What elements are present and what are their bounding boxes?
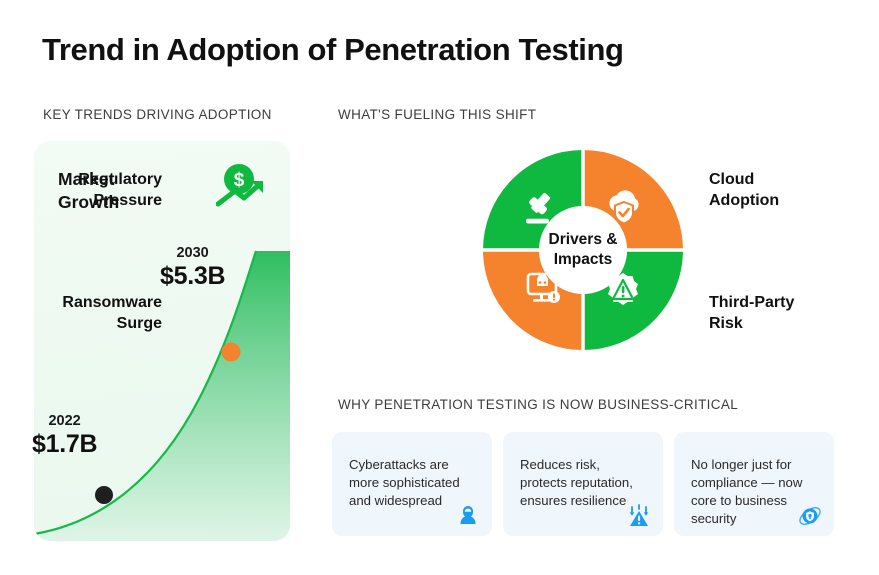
- section-label-key-trends: KEY TRENDS DRIVING ADOPTION: [43, 107, 272, 122]
- donut-label-ransomware-line1: Ransomware: [62, 294, 162, 311]
- donut-label-ransomware-surge: Ransomware Surge: [62, 293, 162, 335]
- chart-label-2030-value: $5.3B: [160, 263, 225, 290]
- donut-label-thirdparty-line2: Risk: [709, 315, 743, 332]
- drivers-impacts-donut: Drivers & Impacts: [483, 150, 683, 350]
- risk-down-icon: [626, 503, 652, 529]
- chart-label-2022-value: $1.7B: [32, 431, 97, 458]
- donut-label-cloud-line2: Adoption: [709, 192, 779, 209]
- market-growth-title: Market Growth: [58, 168, 119, 214]
- donut-label-cloud-line1: Cloud: [709, 171, 754, 188]
- business-critical-cards: Cyberattacks are more sophisticated and …: [332, 432, 834, 536]
- dollar-growth-icon: $: [216, 163, 270, 211]
- chart-label-2022: 2022 $1.7B: [32, 414, 97, 458]
- section-label-whats-fueling: WHAT'S FUELING THIS SHIFT: [338, 107, 536, 122]
- donut-label-third-party-risk: Third-Party Risk: [709, 293, 794, 335]
- chart-label-2030-year: 2030: [160, 246, 225, 261]
- market-growth-card: Market Growth $: [34, 141, 290, 541]
- market-growth-title-line2: Growth: [58, 192, 119, 212]
- market-growth-title-line1: Market: [58, 169, 114, 189]
- section-label-why-business-critical: WHY PENETRATION TESTING IS NOW BUSINESS-…: [338, 397, 738, 412]
- info-card-compliance: No longer just for compliance — now core…: [674, 432, 834, 536]
- page-title: Trend in Adoption of Penetration Testing: [42, 32, 624, 68]
- shield-orbit-icon: [797, 503, 823, 529]
- info-card-cyberattacks: Cyberattacks are more sophisticated and …: [332, 432, 492, 536]
- donut-label-cloud-adoption: Cloud Adoption: [709, 170, 779, 212]
- chart-label-2030: 2030 $5.3B: [160, 246, 225, 290]
- chart-label-2022-year: 2022: [32, 414, 97, 429]
- info-card-reduces-risk: Reduces risk, protects reputation, ensur…: [503, 432, 663, 536]
- donut-label-thirdparty-line1: Third-Party: [709, 294, 794, 311]
- svg-text:$: $: [234, 170, 245, 191]
- hacker-icon: [455, 503, 481, 529]
- donut-label-ransomware-line2: Surge: [117, 315, 162, 332]
